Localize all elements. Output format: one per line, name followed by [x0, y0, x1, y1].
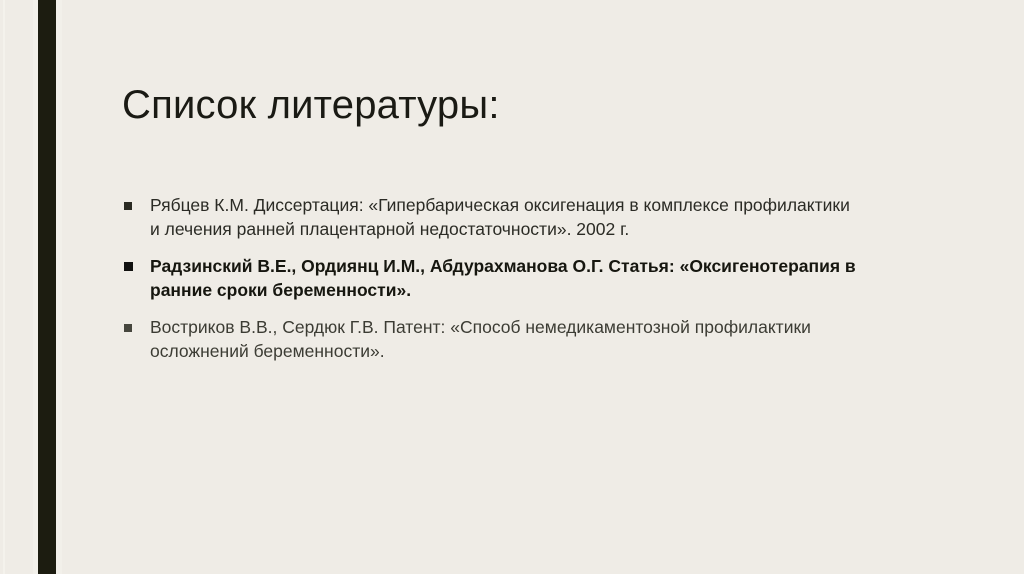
left-edge-seam	[3, 0, 5, 574]
left-accent-bar	[38, 0, 56, 574]
list-item: Востриков В.В., Сердюк Г.В. Патент: «Спо…	[120, 315, 860, 363]
slide-title: Список литературы:	[122, 81, 500, 129]
square-bullet-icon	[124, 202, 132, 210]
reference-text: Востриков В.В., Сердюк Г.В. Патент: «Спо…	[150, 317, 811, 361]
presentation-slide: Список литературы: Рябцев К.М. Диссертац…	[0, 0, 1024, 574]
list-item: Рябцев К.М. Диссертация: «Гипербарическа…	[120, 193, 860, 241]
square-bullet-icon	[124, 262, 133, 271]
list-item: Радзинский В.Е., Ордиянц И.М., Абдурахма…	[120, 254, 860, 302]
reference-text: Радзинский В.Е., Ордиянц И.М., Абдурахма…	[150, 256, 856, 300]
square-bullet-icon	[124, 324, 132, 332]
reference-text: Рябцев К.М. Диссертация: «Гипербарическа…	[150, 195, 850, 239]
accent-bar-gutter-right	[56, 0, 62, 574]
reference-list: Рябцев К.М. Диссертация: «Гипербарическа…	[120, 193, 860, 363]
